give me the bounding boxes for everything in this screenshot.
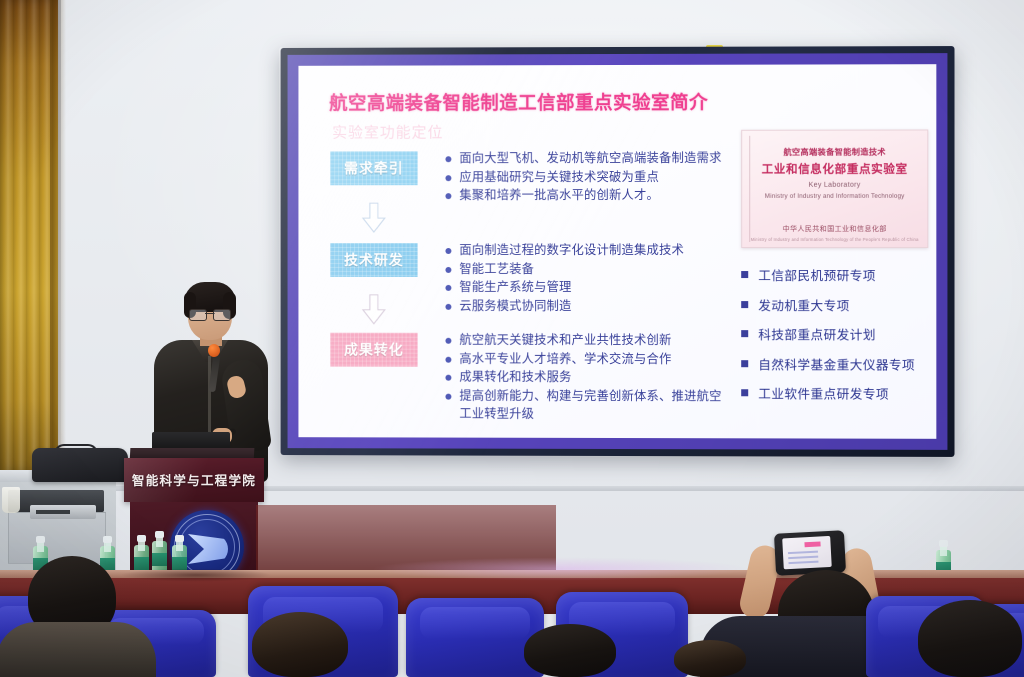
bullet-text: 面向制造过程的数字化设计制造集成技术 — [459, 243, 684, 258]
emblem-swoosh — [188, 534, 228, 564]
bullet-item: 智能生产系统与管理 — [445, 280, 684, 295]
audience-head — [252, 612, 348, 677]
certificate-line-6: Ministry of Industry and Information Tec… — [742, 237, 927, 242]
slide-subtitle: 实验室功能定位 — [332, 121, 443, 142]
project-item: 科技部重点研发计划 — [741, 324, 915, 343]
bullet-item: 智能工艺装备 — [445, 261, 684, 276]
bullet-text: 成果转化和技术服务 — [459, 370, 571, 385]
bullet-dot-icon — [445, 285, 451, 291]
certificate-line-2: 工业和信息化部重点实验室 — [742, 161, 927, 177]
slide-title: 航空高端装备智能制造工信部重点实验室简介 — [329, 89, 708, 116]
bullet-dot-icon — [445, 248, 451, 254]
bullet-item: 面向大型飞机、发动机等航空高端装备制造需求 — [445, 151, 721, 166]
square-bullet-icon — [741, 301, 748, 308]
bullet-dot-icon — [445, 193, 451, 199]
bullet-item-continuation: 工业转型升级 — [459, 407, 721, 423]
down-arrow-icon — [361, 202, 387, 234]
bullet-dot-icon — [445, 356, 451, 362]
bullet-text: 智能生产系统与管理 — [459, 280, 571, 295]
stage-bullets-1: 面向大型飞机、发动机等航空高端装备制造需求 应用基础研究与关键技术突破为重点 集… — [445, 151, 721, 207]
black-bag — [32, 448, 128, 482]
stage-chip-1: 需求牵引 — [330, 151, 417, 185]
square-bullet-icon — [741, 271, 748, 278]
av-equipment-panel — [30, 505, 96, 519]
podium-label: 智能科学与工程学院 — [124, 470, 264, 489]
audience-seat — [406, 598, 544, 677]
bullet-text: 航空航天关键技术和产业共性技术创新 — [459, 333, 671, 348]
bullet-text: 高水平专业人才培养、学术交流与合作 — [459, 351, 671, 366]
projection-screen: 航空高端装备智能制造工信部重点实验室简介 实验室功能定位 需求牵引 面向大型飞机… — [281, 46, 955, 457]
project-item: 发动机重大专项 — [741, 295, 915, 314]
eyeglasses-icon — [189, 309, 231, 319]
stage-bullets-3: 航空航天关键技术和产业共性技术创新 高水平专业人才培养、学术交流与合作 成果转化… — [445, 333, 721, 426]
stage-chip-2: 技术研发 — [330, 243, 417, 277]
phone-screen-title — [804, 541, 820, 547]
bullet-dot-icon — [445, 393, 451, 399]
square-bullet-icon — [741, 360, 748, 367]
project-label: 科技部重点研发计划 — [758, 324, 876, 343]
stage-block-3: 成果转化 航空航天关键技术和产业共性技术创新 高水平专业人才培养、学术交流与合作 — [330, 333, 721, 426]
bullet-item: 云服务模式协同制造 — [445, 298, 684, 313]
stage-block-1: 需求牵引 面向大型飞机、发动机等航空高端装备制造需求 应用基础研究与关键技术突破… — [330, 151, 721, 207]
bullet-dot-icon — [445, 303, 451, 309]
bullet-dot-icon — [445, 175, 451, 181]
bullet-item: 应用基础研究与关键技术突破为重点 — [445, 169, 721, 184]
certificate-line-4: Ministry of Industry and Information Tec… — [742, 193, 927, 200]
tea-cup — [2, 487, 20, 513]
side-table-panel — [8, 512, 106, 564]
bullet-text: 集聚和培养一批高水平的创新人才。 — [459, 188, 659, 203]
presentation-photo: 航空高端装备智能制造工信部重点实验室简介 实验室功能定位 需求牵引 面向大型飞机… — [0, 0, 1024, 677]
project-label: 工业软件重点研发专项 — [758, 383, 889, 402]
project-label: 发动机重大专项 — [758, 295, 849, 314]
bullet-dot-icon — [445, 156, 451, 162]
certificate-plaque: 航空高端装备智能制造技术 工业和信息化部重点实验室 Key Laboratory… — [741, 129, 928, 248]
project-label: 自然科学基金重大仪器专项 — [758, 354, 915, 373]
bullet-item: 航空航天关键技术和产业共性技术创新 — [445, 333, 721, 348]
stage-light-reflection — [300, 556, 820, 582]
down-arrow-icon — [361, 294, 387, 326]
smartphone — [774, 530, 846, 576]
square-bullet-icon — [741, 330, 748, 337]
project-item: 工业软件重点研发专项 — [741, 383, 915, 402]
bullet-text: 提高创新能力、构建与完善创新体系、推进航空 — [459, 388, 721, 404]
slide-content: 航空高端装备智能制造工信部重点实验室简介 实验室功能定位 需求牵引 面向大型飞机… — [298, 64, 936, 439]
podium-shadow — [96, 566, 296, 584]
bullet-item: 提高创新能力、构建与完善创新体系、推进航空 — [445, 388, 721, 404]
project-item: 自然科学基金重大仪器专项 — [741, 354, 915, 373]
bullet-item: 高水平专业人才培养、学术交流与合作 — [445, 351, 721, 366]
audience-shoulders — [0, 622, 156, 677]
audience-head — [524, 624, 616, 677]
screen-border: 航空高端装备智能制造工信部重点实验室简介 实验室功能定位 需求牵引 面向大型飞机… — [288, 53, 948, 450]
certificate-line-3: Key Laboratory — [742, 182, 927, 189]
bullet-dot-icon — [445, 375, 451, 381]
project-list: 工信部民机预研专项 发动机重大专项 科技部重点研发计划 自然科学基金重大仪器专项 — [741, 265, 915, 413]
certificate-line-5: 中华人民共和国工业和信息化部 — [742, 224, 927, 234]
bullet-item: 集聚和培养一批高水平的创新人才。 — [445, 188, 721, 203]
bullet-item: 成果转化和技术服务 — [445, 370, 721, 385]
wall-seam — [58, 0, 61, 470]
bullet-dot-icon — [445, 266, 451, 272]
bullet-text: 面向大型飞机、发动机等航空高端装备制造需求 — [459, 151, 721, 166]
project-item: 工信部民机预研专项 — [741, 265, 915, 284]
stage-chip-3: 成果转化 — [330, 333, 417, 367]
square-bullet-icon — [741, 389, 748, 396]
audience-head — [918, 600, 1022, 677]
bullet-text: 智能工艺装备 — [459, 261, 534, 276]
bullet-text: 工业转型升级 — [459, 407, 534, 422]
bullet-text: 应用基础研究与关键技术突破为重点 — [459, 169, 659, 184]
certificate-line-1: 航空高端装备智能制造技术 — [742, 146, 927, 158]
bullet-item: 面向制造过程的数字化设计制造集成技术 — [445, 243, 684, 258]
audience-head — [674, 640, 746, 677]
microphone-head — [208, 344, 220, 357]
phone-screen — [782, 536, 832, 569]
bullet-dot-icon — [445, 338, 451, 344]
bullet-text: 云服务模式协同制造 — [459, 298, 571, 313]
stage-bullets-2: 面向制造过程的数字化设计制造集成技术 智能工艺装备 智能生产系统与管理 — [445, 243, 684, 317]
project-label: 工信部民机预研专项 — [758, 265, 876, 284]
